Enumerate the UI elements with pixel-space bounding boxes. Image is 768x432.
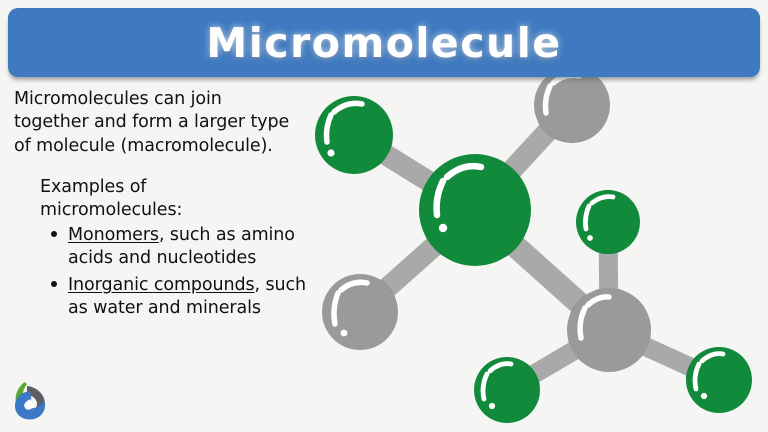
intro-paragraph: Micromolecules can join together and for… [14,88,300,158]
atom-green-bottom-left [474,357,540,423]
examples-list: Monomers, such as amino acids and nucleo… [0,224,318,319]
atom-gray-left-lower [322,274,398,350]
examples-heading: Examples of micromolecules: [40,176,245,223]
atom-green-bottom-right [686,347,752,413]
logo-inner-dot [24,401,33,410]
list-item: Inorganic compounds, such as water and m… [68,274,313,320]
bond-group [354,105,719,390]
atom-green-center-main [419,154,531,266]
atom-gray-center-right [567,288,651,372]
atom-gray-top-right [534,67,610,143]
atom-green-upper-right [576,190,640,254]
slide-canvas: Micromolecule [0,0,768,432]
bullet-dot-icon [51,281,57,287]
list-item-term: Inorganic compounds [68,275,255,295]
page-title: Micromolecule [206,19,561,67]
bullet-dot-icon [51,231,57,237]
list-item-term: Monomers [68,225,159,245]
atom-green-top-left [315,96,393,174]
site-logo [8,379,50,421]
list-item: Monomers, such as amino acids and nucleo… [68,224,313,270]
text-column: Micromolecules can join together and for… [0,88,318,323]
title-bar: Micromolecule [8,8,760,77]
